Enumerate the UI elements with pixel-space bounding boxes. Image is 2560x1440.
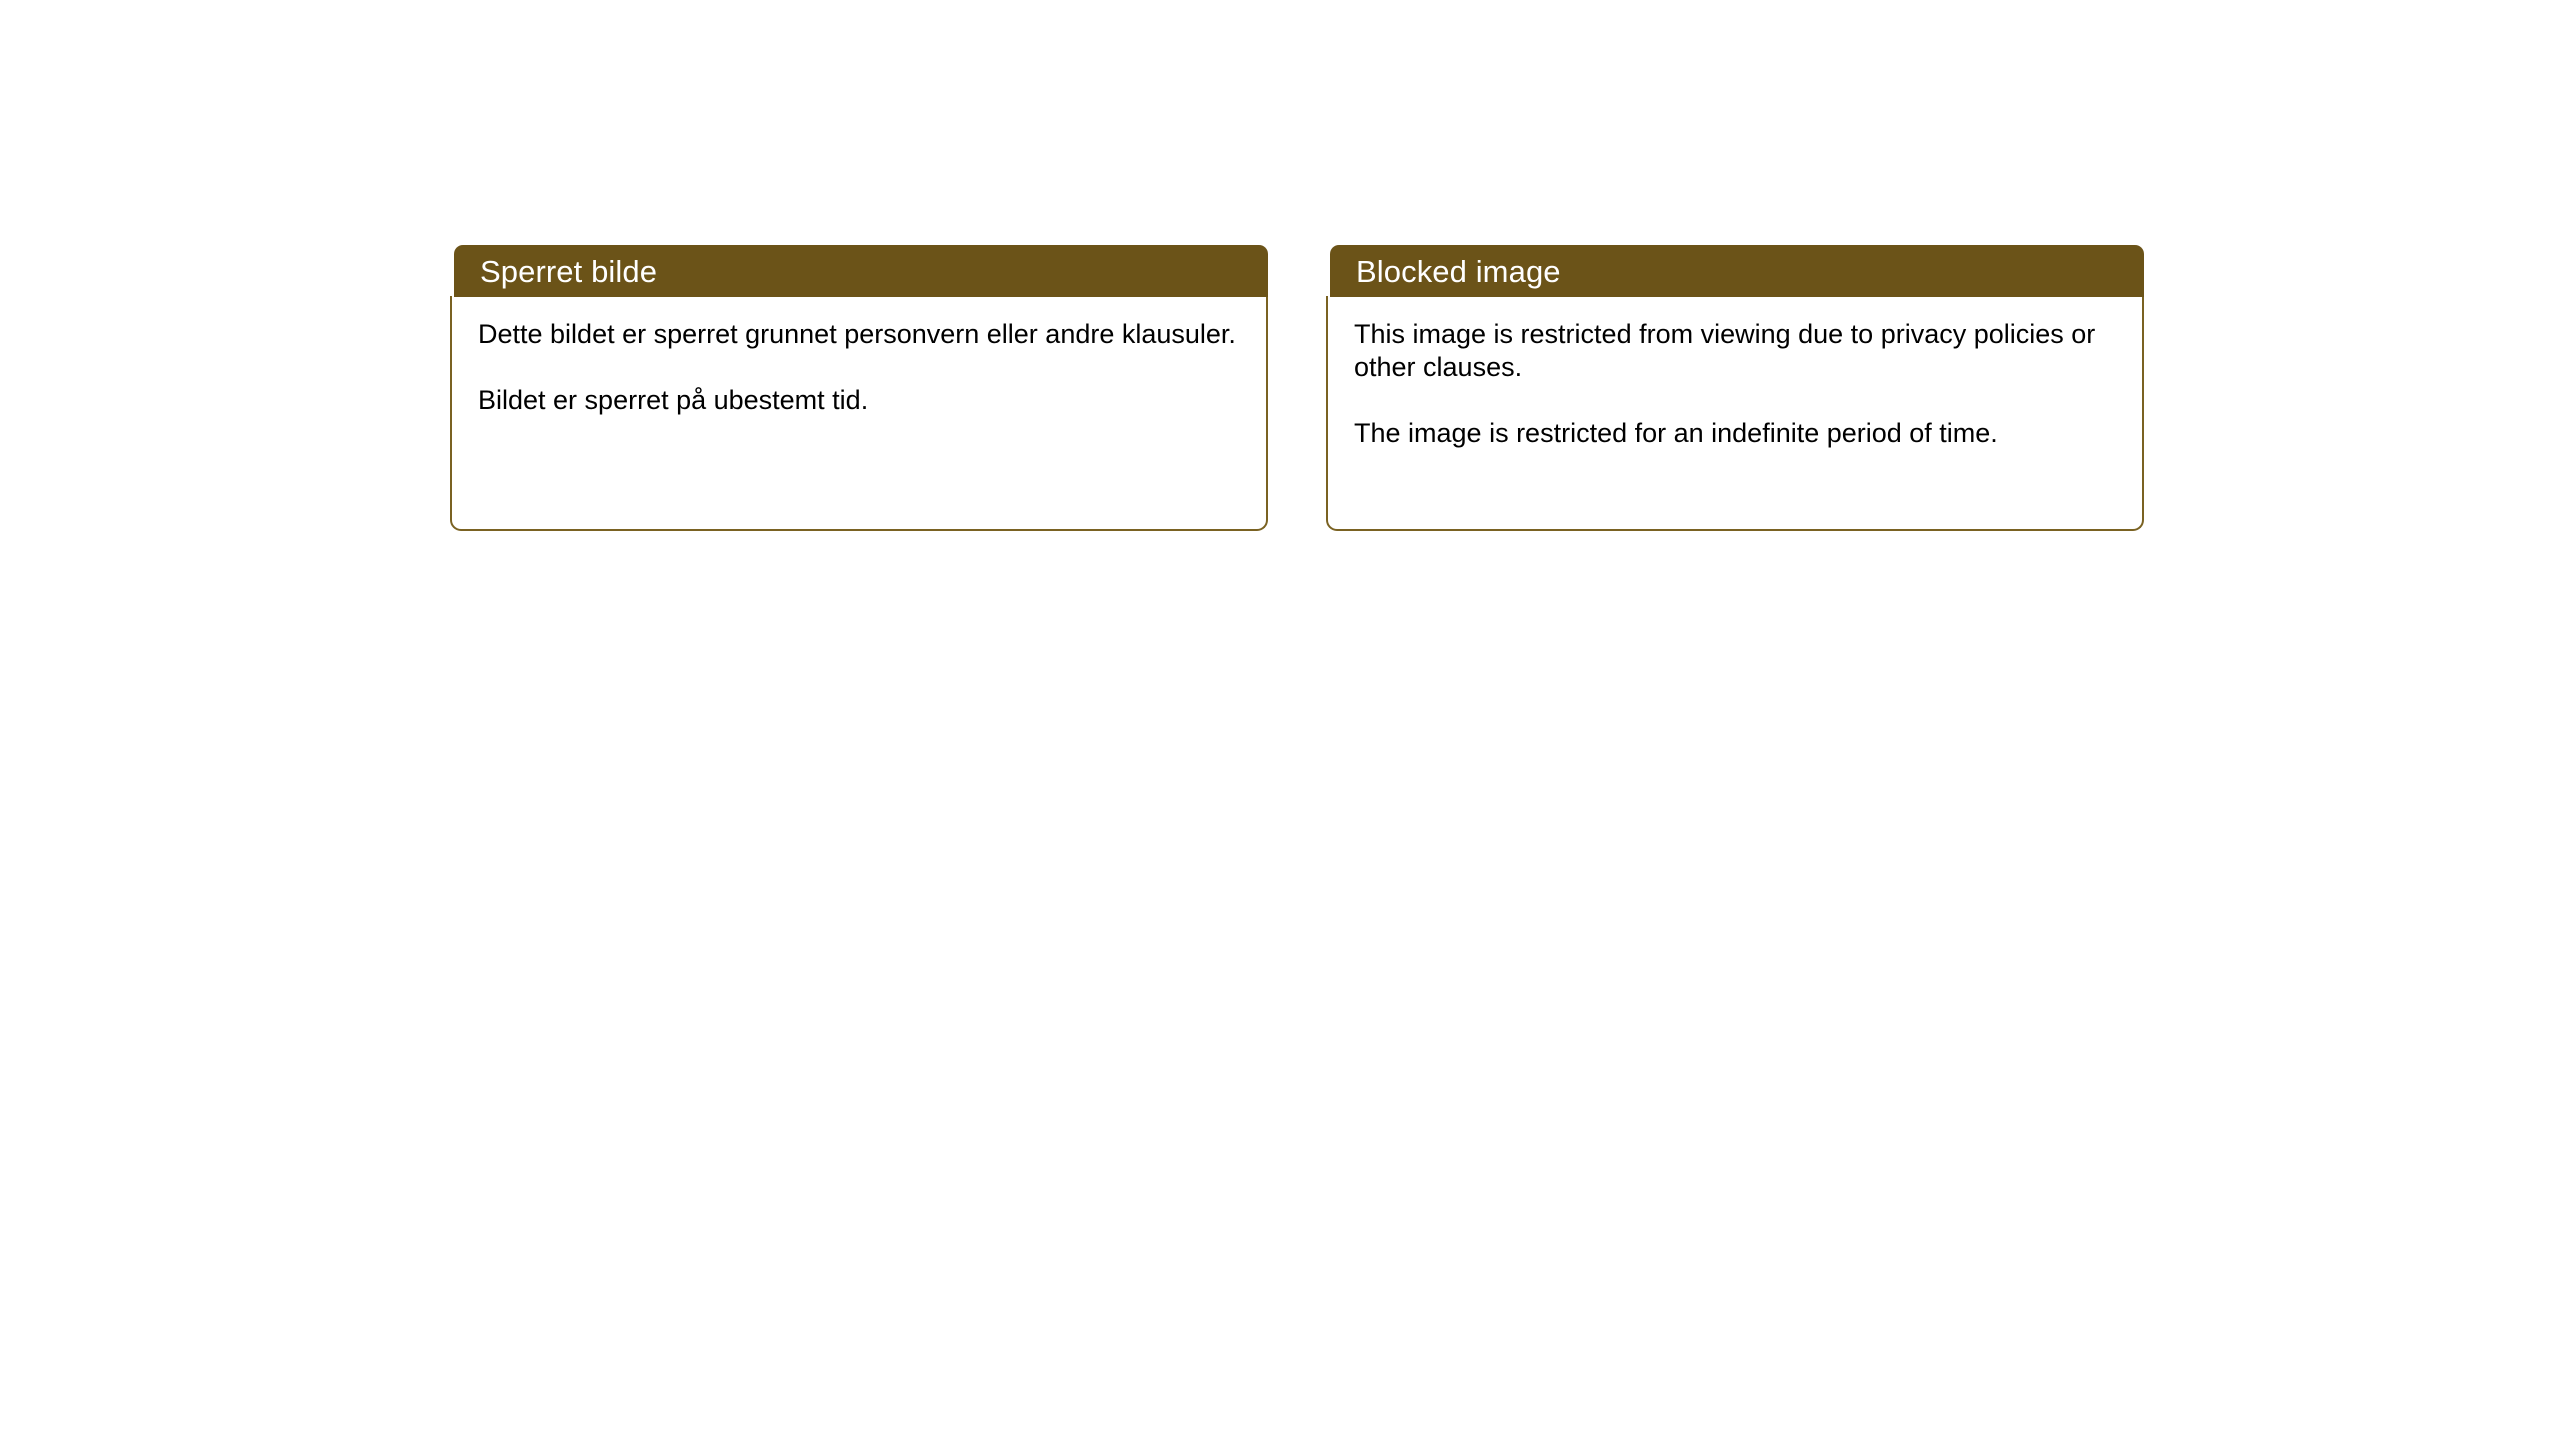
panel-paragraph-primary-no: Dette bildet er sperret grunnet personve… [478, 318, 1238, 351]
panel-paragraph-secondary-no: Bildet er sperret på ubestemt tid. [478, 384, 1238, 417]
panel-header-no: Sperret bilde [454, 245, 1268, 297]
blocked-image-notice-en: Blocked image This image is restricted f… [1326, 245, 2144, 531]
paragraph-spacer-en [1354, 384, 2118, 417]
panel-title-en: Blocked image [1330, 256, 1561, 287]
panel-body-en: This image is restricted from viewing du… [1326, 296, 2144, 531]
paragraph-spacer-no [478, 351, 1242, 384]
panel-body-no: Dette bildet er sperret grunnet personve… [450, 296, 1268, 531]
blocked-image-notice-no: Sperret bilde Dette bildet er sperret gr… [450, 245, 1268, 531]
page-canvas: Sperret bilde Dette bildet er sperret gr… [0, 0, 2560, 1440]
panel-header-en: Blocked image [1330, 245, 2144, 297]
panel-paragraph-secondary-en: The image is restricted for an indefinit… [1354, 417, 2114, 450]
panel-paragraph-primary-en: This image is restricted from viewing du… [1354, 318, 2114, 384]
panel-title-no: Sperret bilde [454, 256, 657, 287]
